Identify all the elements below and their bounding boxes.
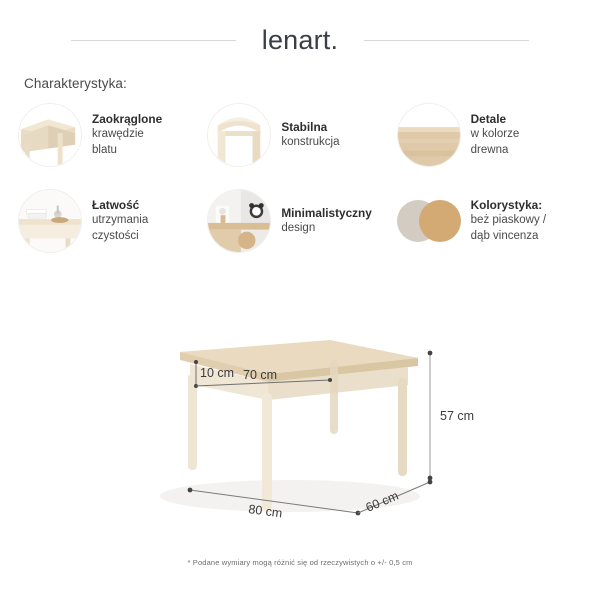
- rounded-table-edge-icon: [18, 103, 82, 167]
- dimension-disclaimer: * Podane wymiary mogą różnić się od rzec…: [0, 558, 600, 567]
- easy-clean-surface-icon: [18, 189, 82, 253]
- header-divider-left: [71, 40, 236, 41]
- feature-text-wood-details: Detale w kolorze drewna: [471, 111, 520, 159]
- feature-title: Minimalistyczny: [281, 205, 371, 221]
- feature-line: krawędzie: [92, 127, 162, 143]
- feature-item-stable-construction: Stabilna konstrukcja: [207, 103, 392, 167]
- feature-text-easy-cleaning: Łatwość utrzymania czystości: [92, 197, 148, 245]
- table-leg-construction-icon: [207, 103, 271, 167]
- dimension-label-top-inner-width: 70 cm: [243, 368, 277, 382]
- feature-line: blatu: [92, 143, 162, 159]
- section-heading: Charakterystyka:: [24, 76, 600, 91]
- wood-colour-detail-icon: [397, 103, 461, 167]
- feature-title: Zaokrąglone: [92, 111, 162, 127]
- feature-text-colours: Kolorystyka: beż piaskowy / dąb vincenza: [471, 197, 546, 245]
- feature-title: Kolorystyka:: [471, 197, 546, 213]
- feature-line: beż piaskowy /: [471, 213, 546, 229]
- feature-item-easy-cleaning: Łatwość utrzymania czystości: [18, 189, 203, 253]
- header-divider-right: [364, 40, 529, 41]
- feature-item-wood-details: Detale w kolorze drewna: [397, 103, 582, 167]
- feature-title: Łatwość: [92, 197, 148, 213]
- swatch-dab-vincenza: [419, 200, 461, 242]
- dimension-label-total-width: 80 cm: [248, 502, 284, 520]
- dimension-label-apron-height: 10 cm: [200, 366, 234, 380]
- feature-item-minimal-design: Minimalistyczny design: [207, 189, 392, 253]
- feature-item-colours: Kolorystyka: beż piaskowy / dąb vincenza: [397, 189, 582, 253]
- table-dimensions-illustration: 10 cm 70 cm 57 cm 80 cm 60 cm: [0, 300, 600, 550]
- feature-line: drewna: [471, 143, 520, 159]
- feature-title: Stabilna: [281, 119, 339, 135]
- feature-text-stable-construction: Stabilna konstrukcja: [281, 119, 339, 151]
- feature-line: czystości: [92, 229, 148, 245]
- dimension-label-total-height: 57 cm: [440, 409, 474, 423]
- feature-item-rounded-edges: Zaokrąglone krawędzie blatu: [18, 103, 203, 167]
- feature-title: Detale: [471, 111, 520, 127]
- feature-text-minimal-design: Minimalistyczny design: [281, 205, 371, 237]
- feature-line: design: [281, 221, 371, 237]
- feature-line: konstrukcja: [281, 135, 339, 151]
- feature-line: w kolorze: [471, 127, 520, 143]
- brand-logo: lenart.: [262, 25, 338, 56]
- feature-line: utrzymania: [92, 213, 148, 229]
- feature-text-rounded-edges: Zaokrąglone krawędzie blatu: [92, 111, 162, 159]
- colour-swatches: [397, 189, 461, 253]
- minimal-interior-icon: [207, 189, 271, 253]
- page-header: lenart.: [0, 0, 600, 70]
- feature-grid: Zaokrąglone krawędzie blatu Stabilna kon…: [18, 103, 582, 253]
- feature-line: dąb vincenza: [471, 229, 546, 245]
